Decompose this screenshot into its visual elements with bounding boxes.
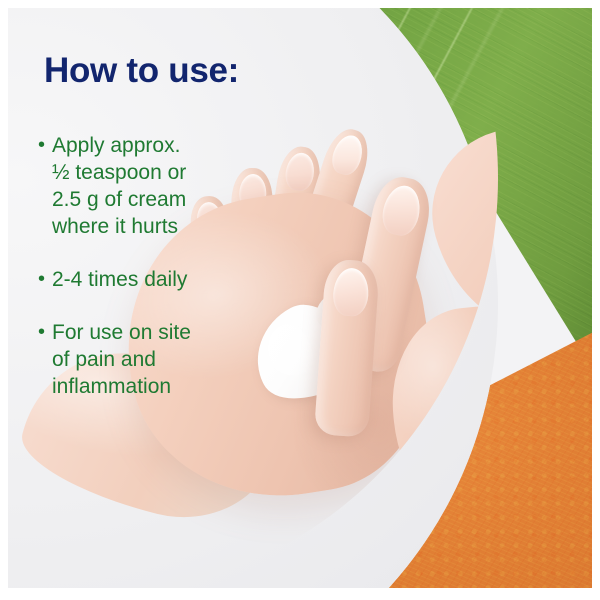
page-title: How to use: xyxy=(44,52,239,91)
bullet-marker: • xyxy=(38,132,52,158)
panel-card: How to use: • Apply approx. ½ teaspoon o… xyxy=(8,8,592,588)
bullet-marker: • xyxy=(38,319,52,345)
list-item: • Apply approx. ½ teaspoon or 2.5 g of c… xyxy=(38,132,268,240)
list-item: • 2-4 times daily xyxy=(38,266,268,293)
bullet-marker: • xyxy=(38,266,52,292)
list-item: • For use on site of pain and inflammati… xyxy=(38,319,268,400)
instruction-panel: How to use: • Apply approx. ½ teaspoon o… xyxy=(0,0,600,600)
fingernail xyxy=(283,151,317,193)
list-item-text: Apply approx. ½ teaspoon or 2.5 g of cre… xyxy=(52,132,186,240)
list-item-text: For use on site of pain and inflammation xyxy=(52,319,191,400)
fingernail xyxy=(328,132,367,179)
instruction-list: • Apply approx. ½ teaspoon or 2.5 g of c… xyxy=(38,132,268,426)
list-item-text: 2-4 times daily xyxy=(52,266,187,293)
fingernail xyxy=(332,267,370,317)
fingernail xyxy=(379,182,425,238)
